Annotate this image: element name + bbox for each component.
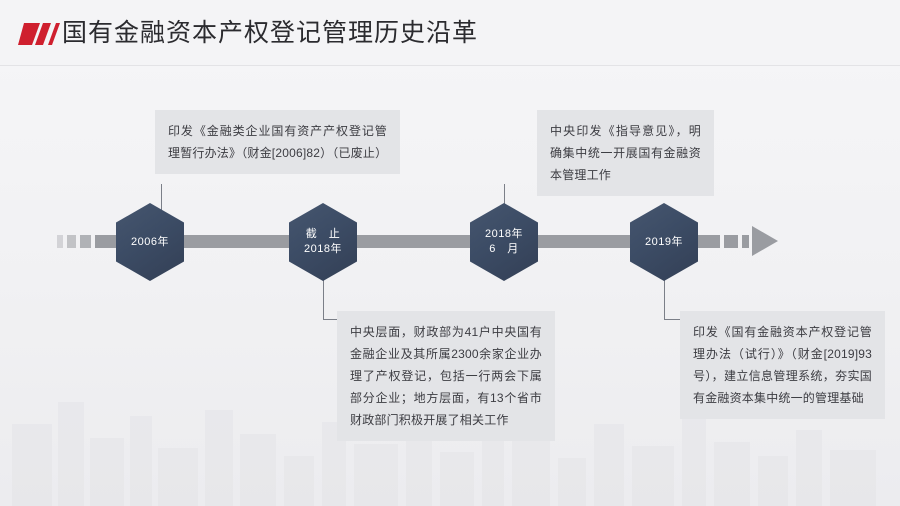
- node-label-line1: 截 止: [306, 227, 341, 242]
- right-arrow-icon: [752, 226, 778, 256]
- red-slash-logo-icon: [18, 19, 66, 49]
- leader-elbow-node-2: [323, 319, 337, 320]
- node-label-line1: 2006年: [131, 235, 169, 250]
- node-label-line1: 2019年: [645, 235, 683, 250]
- timeline-node-2019[interactable]: 2019年: [630, 203, 698, 281]
- page-title: 国有金融资本产权登记管理历史沿革: [62, 18, 478, 50]
- axis-dash-right-1: [724, 235, 738, 248]
- node-label-line1: 2018年: [485, 227, 523, 242]
- slide-canvas: 国有金融资本产权登记管理历史沿革 印发《金融类企业国有资产产权登记管理暂行办法》…: [0, 0, 900, 506]
- node-label-line2: 2018年: [304, 242, 342, 257]
- leader-elbow-node-4: [664, 319, 680, 320]
- timeline-node-2018-cutoff[interactable]: 截 止 2018年: [289, 203, 357, 281]
- timeline-node-2006[interactable]: 2006年: [116, 203, 184, 281]
- axis-dash-left-2: [67, 235, 76, 248]
- timeline-node-2018-june[interactable]: 2018年 6 月: [470, 203, 538, 281]
- axis-dash-right-2: [742, 235, 749, 248]
- axis-dash-left-3: [80, 235, 91, 248]
- note-2006: 印发《金融类企业国有资产产权登记管理暂行办法》（财金[2006]82）（已废止）: [155, 110, 400, 174]
- note-2018-june: 中央印发《指导意见》，明确集中统一开展国有金融资本管理工作: [537, 110, 714, 196]
- note-2019: 印发《国有金融资本产权登记管理办法（试行）》（财金[2019]93号），建立信息…: [680, 311, 885, 419]
- node-label-line2: 6 月: [489, 242, 519, 257]
- axis-bar: [95, 235, 720, 248]
- axis-dash-left-1: [57, 235, 63, 248]
- note-2018-cutoff: 中央层面，财政部为41户中央国有金融企业及其所属2300余家企业办理了产权登记，…: [337, 311, 555, 441]
- slide-header: 国有金融资本产权登记管理历史沿革: [0, 0, 900, 66]
